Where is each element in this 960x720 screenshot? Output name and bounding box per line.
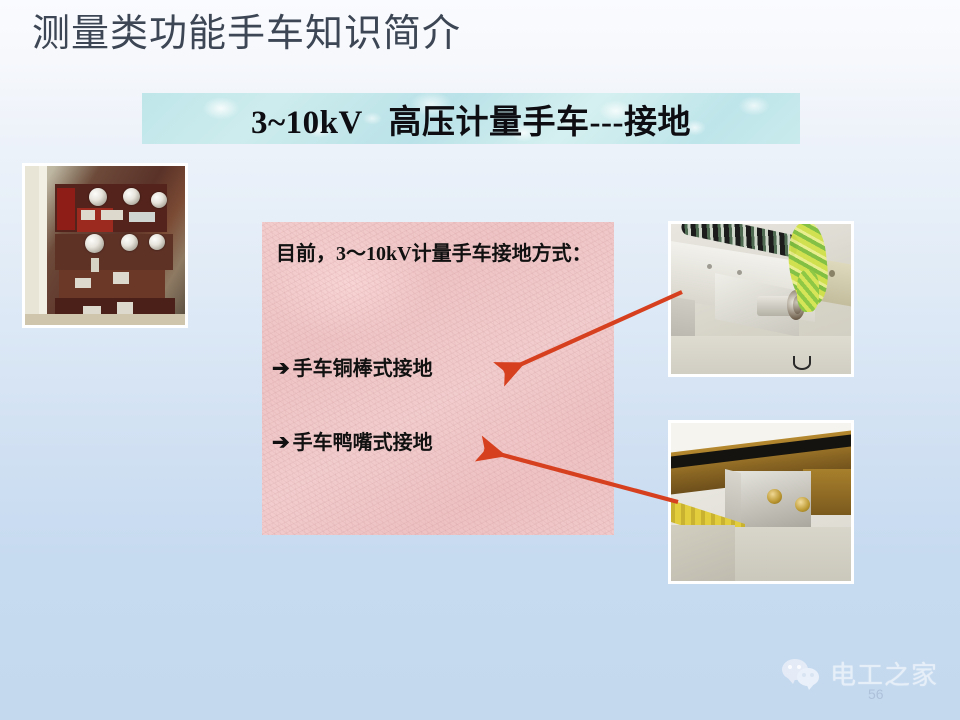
subtitle-banner-text: 3~10kV 高压计量手车---接地 [251, 95, 691, 143]
page-title: 测量类功能手车知识简介 [32, 8, 461, 60]
watermark: 电工之家 [782, 655, 938, 692]
list-item-label: 手车鸭嘴式接地 [293, 426, 433, 455]
list-item: ➔ 手车鸭嘴式接地 [272, 426, 433, 455]
list-item: ➔ 手车铜棒式接地 [272, 352, 433, 381]
arrow-right-icon: ➔ [272, 358, 290, 379]
duck-bill-grounding-photo [668, 420, 854, 584]
watermark-text: 电工之家 [830, 655, 938, 692]
arrow-right-icon: ➔ [272, 432, 290, 453]
switchgear-cabinet-photo [22, 163, 188, 328]
copper-rod-grounding-photo-image [671, 224, 851, 374]
intro-paragraph: 目前，3～10kV计量手车接地方式： [276, 240, 600, 269]
subtitle-banner: 3~10kV 高压计量手车---接地 [142, 93, 800, 144]
switchgear-cabinet-photo-image [25, 166, 185, 325]
duck-bill-grounding-photo-image [671, 423, 851, 581]
wechat-icon [782, 659, 822, 689]
copper-rod-grounding-photo [668, 221, 854, 377]
slide-canvas: 测量类功能手车知识简介 3~10kV 高压计量手车---接地 [0, 0, 960, 720]
list-item-label: 手车铜棒式接地 [293, 352, 433, 381]
